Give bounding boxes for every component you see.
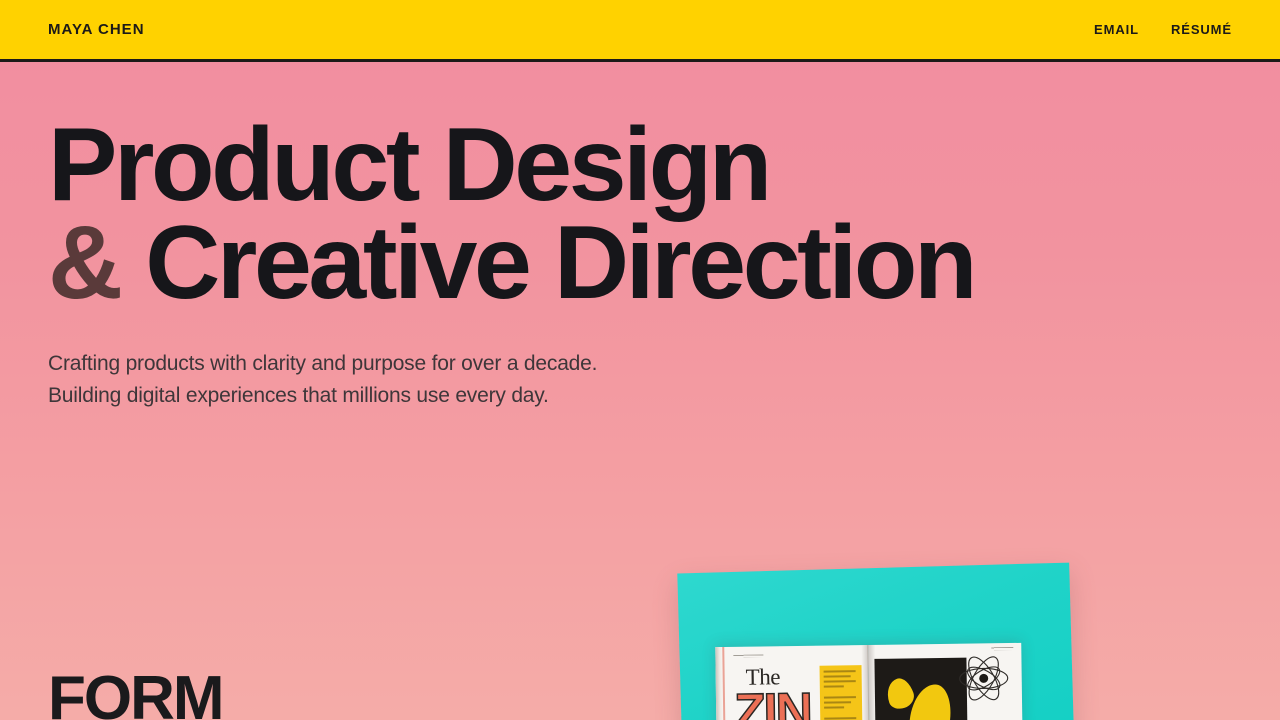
subtitle-line-2: Building digital experiences that millio… <box>48 384 549 407</box>
main-navigation: EMAIL RÉSUMÉ <box>1094 23 1232 36</box>
text-line <box>824 696 856 698</box>
open-magazine: The ZIN <box>715 643 1023 720</box>
text-line <box>824 670 856 672</box>
magazine-photo: The ZIN <box>676 560 1080 720</box>
magazine-page-left: The ZIN <box>715 645 870 720</box>
page-root: MAYA CHEN EMAIL RÉSUMÉ Product Design & … <box>0 0 1280 720</box>
nav-link-resume[interactable]: RÉSUMÉ <box>1171 23 1232 36</box>
yellow-text-column <box>820 665 863 720</box>
page-folio-text <box>991 647 1013 650</box>
atom-orbital-icon <box>955 653 1012 704</box>
page-title: Product Design & Creative Direction <box>48 116 1232 312</box>
text-line <box>824 675 851 677</box>
text-line <box>824 680 856 682</box>
hero-subtitle: Crafting products with clarity and purpo… <box>48 348 1232 412</box>
nav-link-email[interactable]: EMAIL <box>1094 23 1139 36</box>
magazine-page-right <box>868 643 1023 720</box>
hero-section: Product Design & Creative Direction Craf… <box>0 62 1280 412</box>
subtitle-line-1: Crafting products with clarity and purpo… <box>48 352 597 375</box>
text-line <box>824 701 851 703</box>
site-logo[interactable]: MAYA CHEN <box>48 22 145 37</box>
section-heading-form: FORM <box>48 668 223 720</box>
yellow-pear-shape <box>908 682 954 720</box>
headline-ampersand: & <box>48 205 120 321</box>
text-line <box>824 717 856 719</box>
magazine-title-zin: ZIN <box>734 686 811 720</box>
headline-line-2: Creative Direction <box>145 205 974 321</box>
text-line <box>824 706 844 708</box>
text-line <box>824 685 844 687</box>
black-image-panel <box>874 658 967 720</box>
site-header: MAYA CHEN EMAIL RÉSUMÉ <box>0 0 1280 62</box>
page-header-text-lines <box>733 654 763 657</box>
